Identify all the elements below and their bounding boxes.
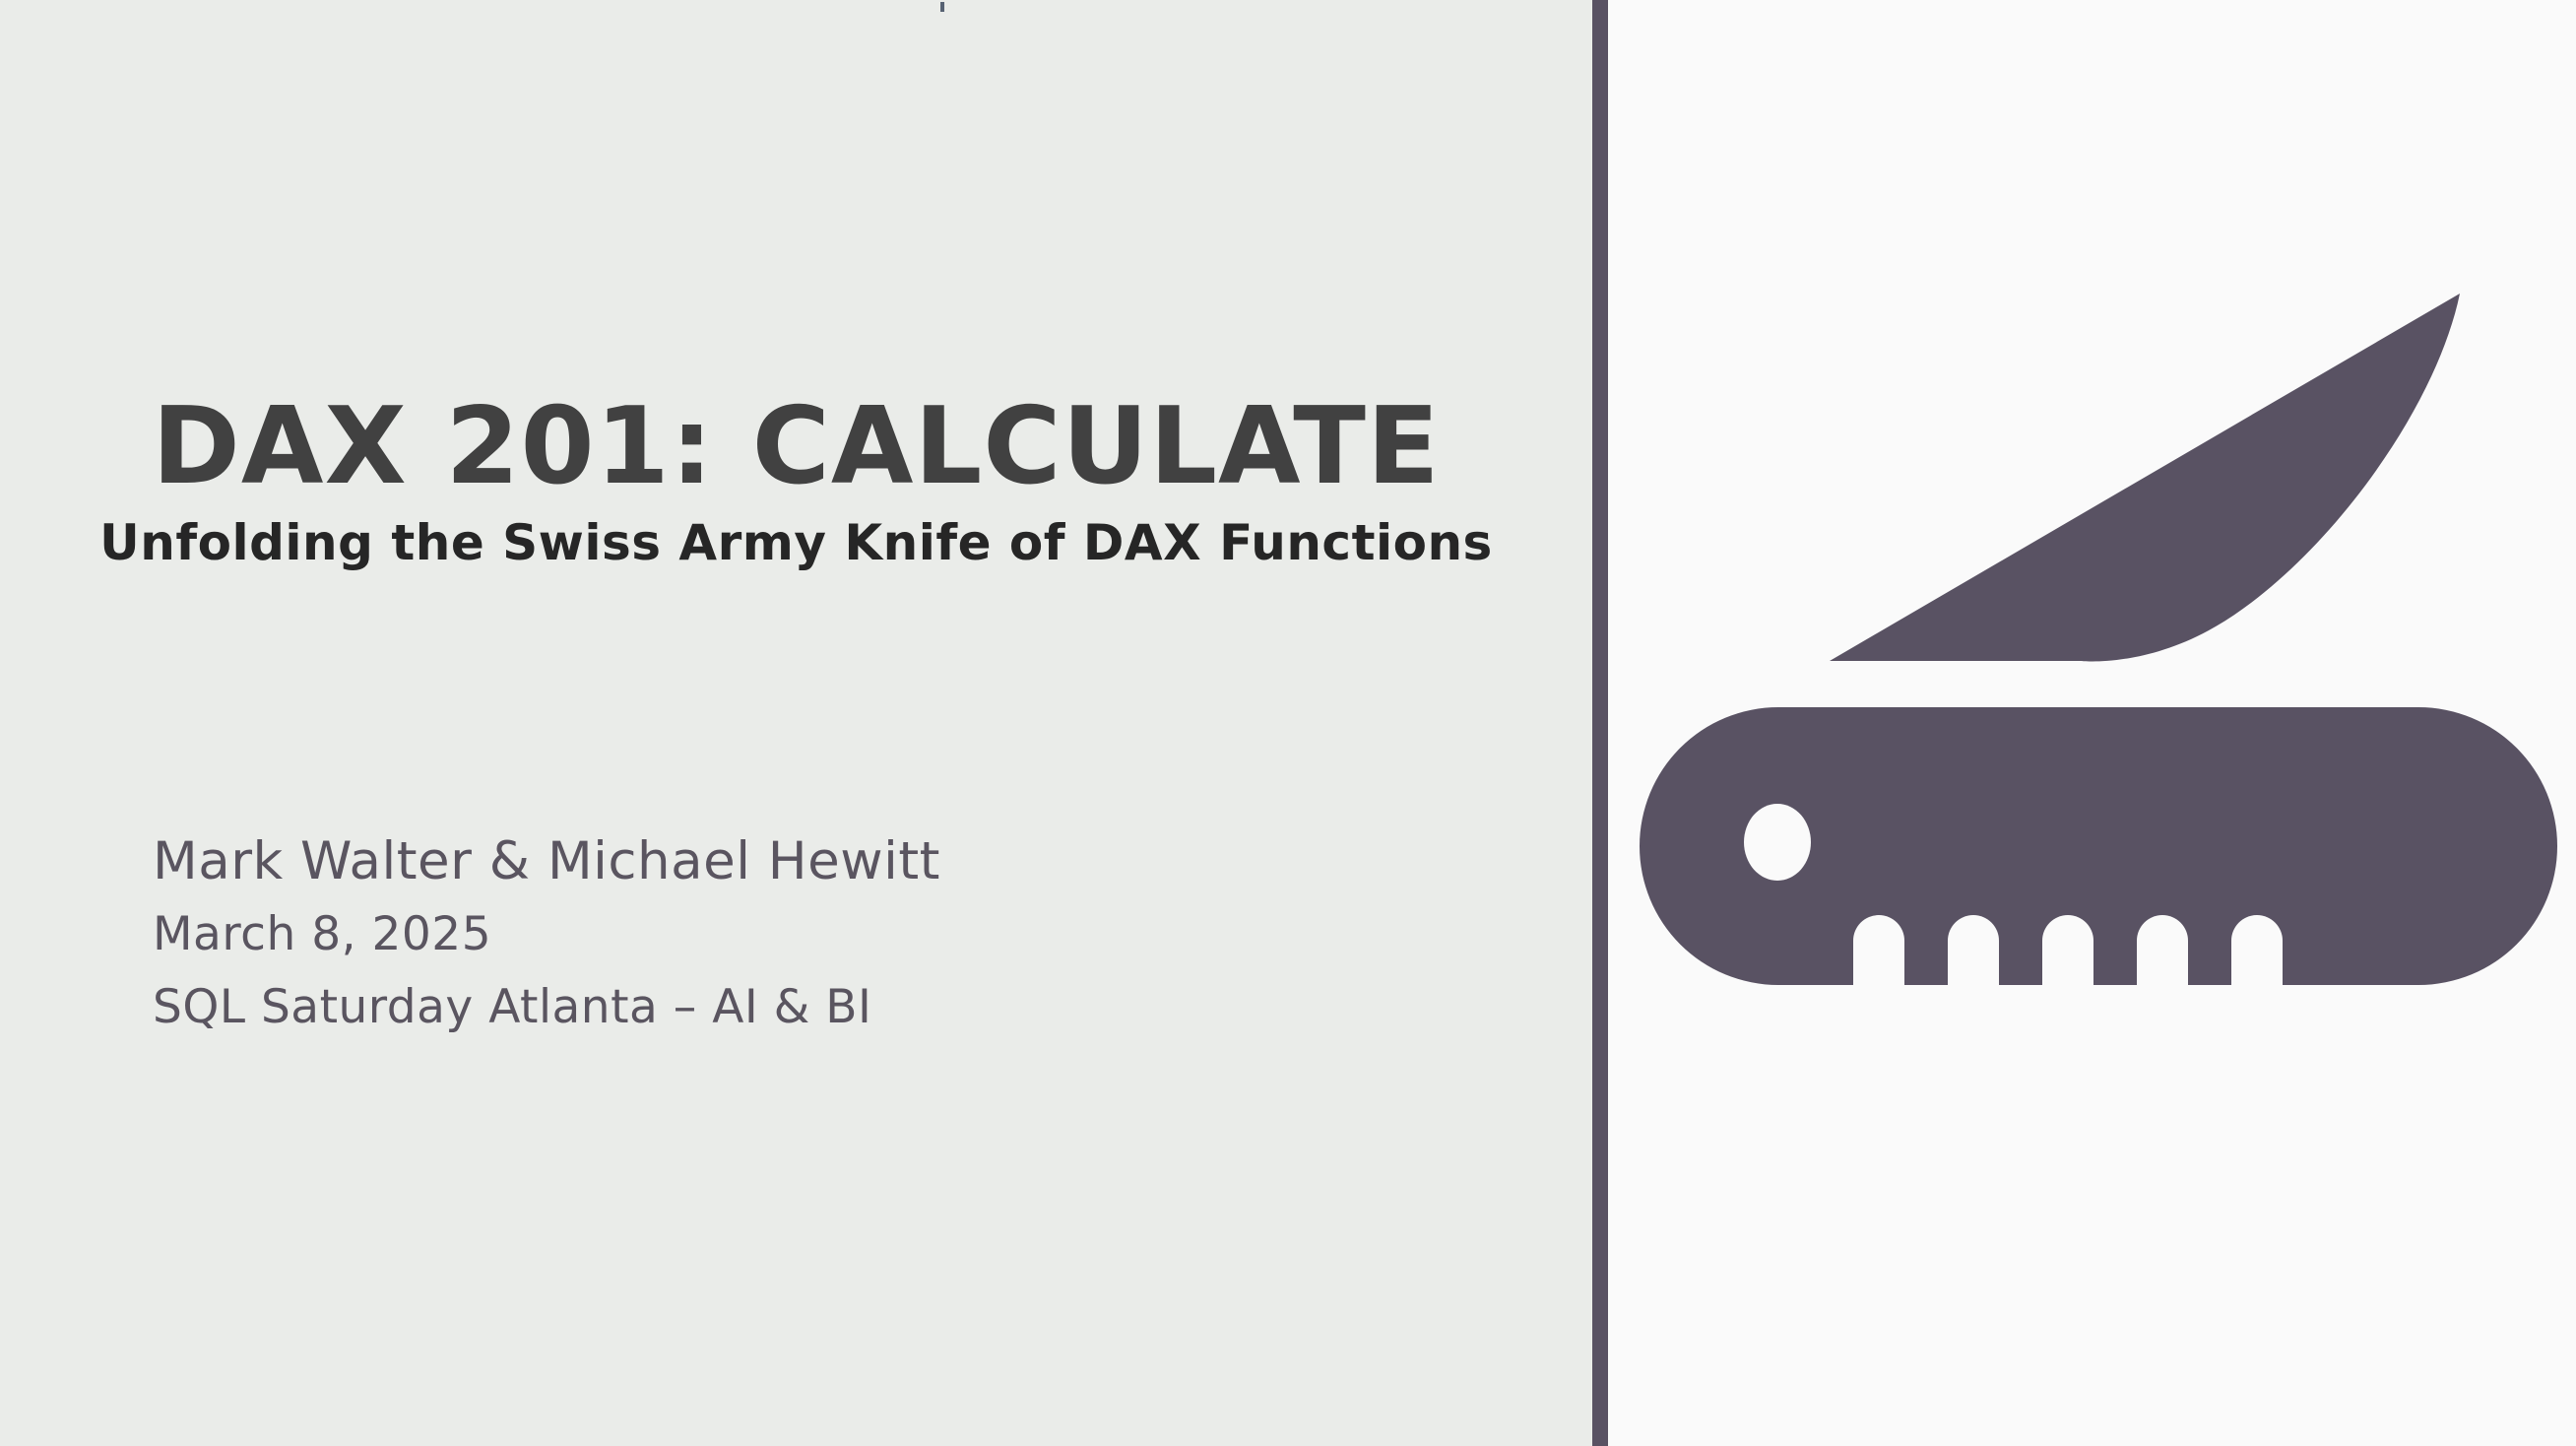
presenter-names: Mark Walter & Michael Hewitt [153, 825, 1433, 898]
title-block: DAX 201: CALCULATE Unfolding the Swiss A… [0, 392, 1592, 570]
slide-subtitle: Unfolding the Swiss Army Knife of DAX Fu… [0, 516, 1592, 570]
event-name: SQL Saturday Atlanta – AI & BI [153, 971, 1433, 1044]
vertical-divider [1592, 0, 1608, 1446]
event-date: March 8, 2025 [153, 898, 1433, 971]
byline-block: Mark Walter & Michael Hewitt March 8, 20… [153, 825, 1433, 1044]
knife-blade-shape [1830, 294, 2460, 662]
slide-title: DAX 201: CALCULATE [0, 392, 1592, 502]
swiss-army-knife-icon [1608, 276, 2576, 1024]
stray-mark-artifact [940, 2, 944, 12]
title-slide: DAX 201: CALCULATE Unfolding the Swiss A… [0, 0, 2576, 1446]
left-content-panel [0, 0, 1592, 1446]
knife-handle-shape [1640, 707, 2557, 985]
